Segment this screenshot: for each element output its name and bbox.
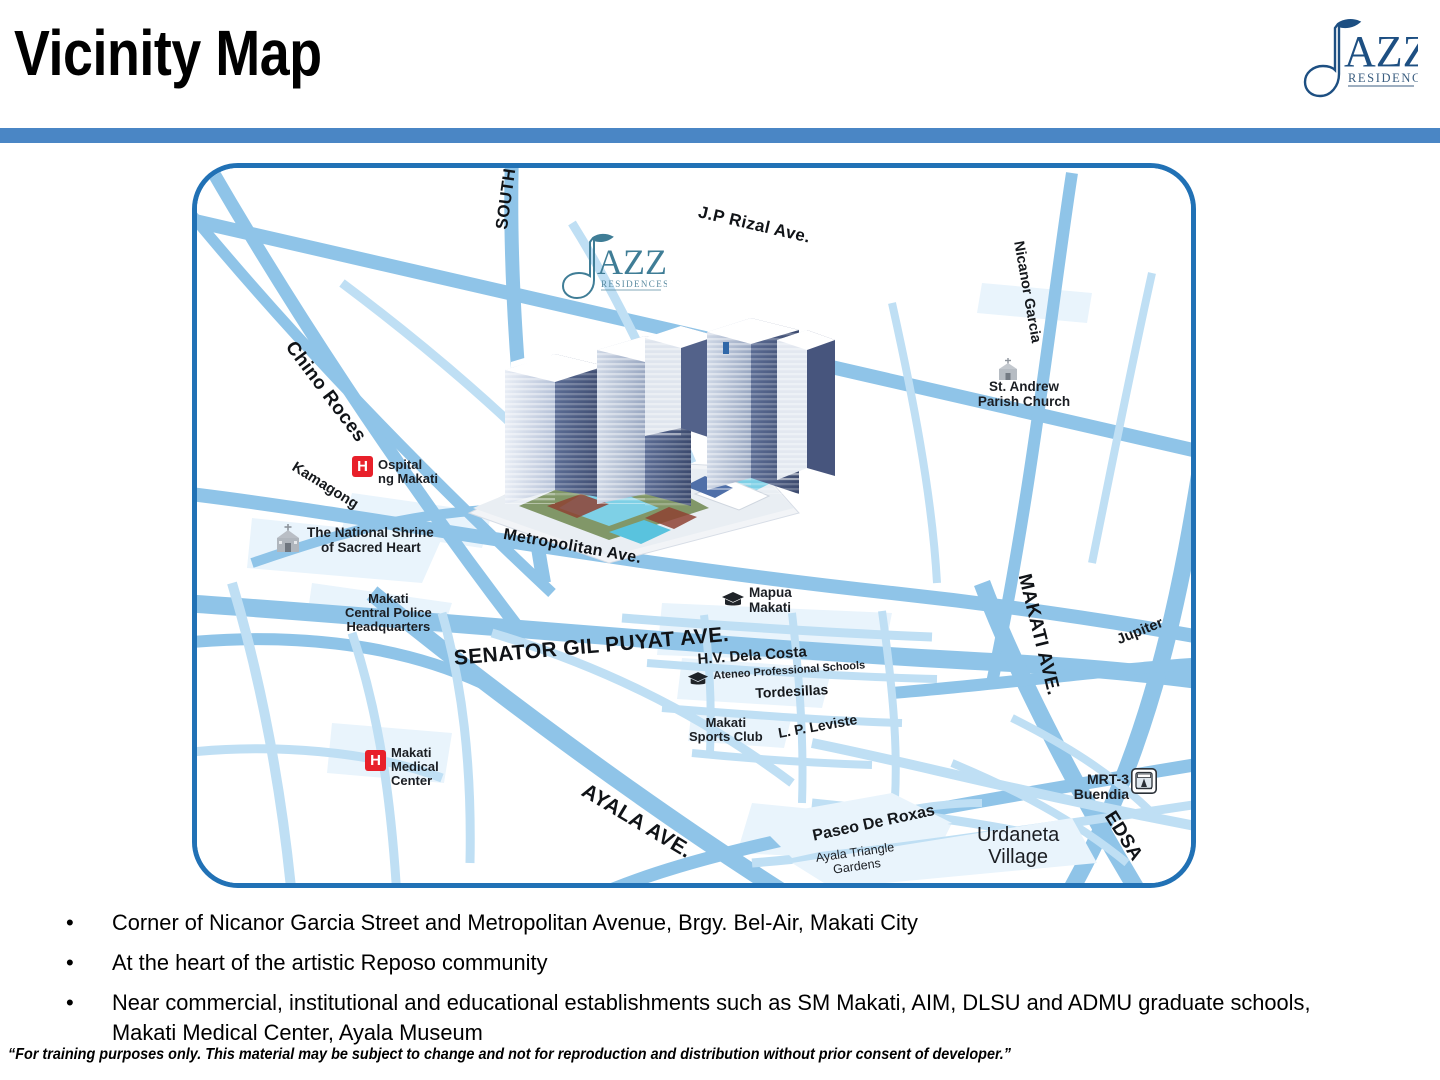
- jazz-residences-logo: AZZ RESIDENCES: [1298, 16, 1418, 108]
- poi-line: Buendia: [1073, 787, 1129, 802]
- hospital-icon-makati-medical-center: H: [365, 750, 386, 771]
- hospital-icon-ospital-ng-makati: H: [352, 456, 373, 477]
- poi-line: Mapua: [749, 586, 792, 601]
- poi-line: Village: [977, 846, 1059, 868]
- bullet-text: At the heart of the artistic Reposo comm…: [112, 948, 1352, 978]
- poi-line: Sports Club: [689, 730, 763, 744]
- poi-national-shrine: The National Shrine of Sacred Heart: [307, 526, 434, 555]
- svg-text:RESIDENCES: RESIDENCES: [601, 279, 667, 289]
- poi-line: Makati: [391, 746, 439, 760]
- poi-line: Urdaneta: [977, 824, 1059, 846]
- bullet-text: Near commercial, institutional and educa…: [112, 988, 1352, 1048]
- list-item: • Near commercial, institutional and edu…: [60, 988, 1390, 1048]
- bullet-text: Corner of Nicanor Garcia Street and Metr…: [112, 908, 1352, 938]
- poi-line: Makati: [345, 592, 432, 606]
- graduation-cap-icon-mapua: [721, 590, 745, 608]
- title-divider-rule: [0, 128, 1440, 143]
- poi-st-andrew-parish-church: St. Andrew Parish Church: [965, 380, 1083, 409]
- poi-line: ng Makati: [378, 472, 438, 486]
- vicinity-map: .rd { stroke:#8fc4e8; fill:none; stroke-…: [192, 163, 1196, 888]
- poi-line: Ospital: [378, 458, 438, 472]
- poi-mrt3-buendia: MRT-3 Buendia: [1073, 772, 1129, 802]
- svg-text:AZZ: AZZ: [1344, 27, 1418, 76]
- bullet-marker: •: [60, 988, 112, 1018]
- poi-line: Makati: [749, 601, 792, 616]
- church-icon-national-shrine: [275, 524, 311, 554]
- poi-line: of Sacred Heart: [307, 541, 434, 556]
- poi-line: Center: [391, 774, 439, 788]
- poi-mapua-makati: Mapua Makati: [749, 586, 792, 615]
- poi-line: Parish Church: [965, 395, 1083, 410]
- list-item: • At the heart of the artistic Reposo co…: [60, 948, 1390, 978]
- graduation-cap-icon-ateneo: [687, 670, 709, 687]
- poi-line: The National Shrine: [307, 526, 434, 541]
- bullet-marker: •: [60, 908, 112, 938]
- poi-makati-medical-center: Makati Medical Center: [391, 746, 439, 788]
- list-item: • Corner of Nicanor Garcia Street and Me…: [60, 908, 1390, 938]
- disclaimer-text: “For training purposes only. This materi…: [8, 1046, 1011, 1064]
- poi-line: MRT-3: [1073, 772, 1129, 787]
- page-title: Vicinity Map: [14, 14, 322, 92]
- poi-line: Headquarters: [345, 620, 432, 634]
- bullet-marker: •: [60, 948, 112, 978]
- poi-makati-sports-club: Makati Sports Club: [689, 716, 763, 744]
- poi-line: Makati: [689, 716, 763, 730]
- map-jazz-logo: AZZ RESIDENCES: [555, 232, 667, 308]
- poi-ospital-ng-makati: Ospital ng Makati: [378, 458, 438, 486]
- poi-makati-central-police-hq: Makati Central Police Headquarters: [345, 592, 432, 634]
- poi-urdaneta-village: Urdaneta Village: [977, 824, 1059, 869]
- svg-text:AZZ: AZZ: [597, 242, 667, 282]
- feature-bullet-list: • Corner of Nicanor Garcia Street and Me…: [60, 908, 1390, 1058]
- train-icon-mrt3-buendia: [1131, 768, 1157, 794]
- poi-line: Medical: [391, 760, 439, 774]
- poi-line: Central Police: [345, 606, 432, 620]
- slide-root: Vicinity Map AZZ RESIDENCES .rd { stroke…: [0, 0, 1440, 1080]
- svg-text:RESIDENCES: RESIDENCES: [1348, 71, 1418, 85]
- poi-line: St. Andrew: [965, 380, 1083, 395]
